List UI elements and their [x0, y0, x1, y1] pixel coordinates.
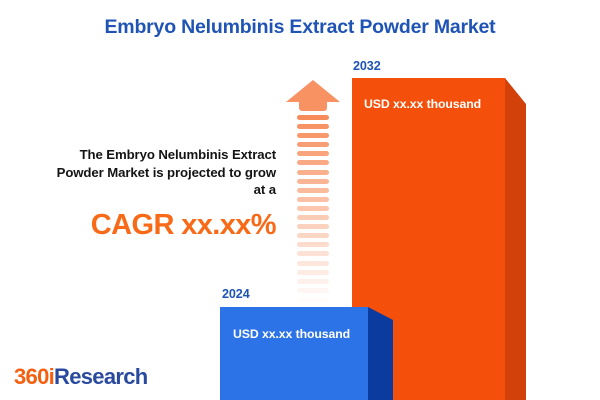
brand-logo[interactable]: 360iResearch — [14, 364, 148, 390]
arrow-segment — [297, 160, 329, 165]
logo-primary-text: 360i — [14, 364, 54, 389]
arrow-head-icon — [286, 80, 340, 102]
statement-line-3: at a — [14, 181, 276, 199]
arrow-segment — [297, 297, 329, 302]
arrow-segment — [297, 261, 329, 266]
bar-2024-side-3d — [368, 307, 393, 400]
arrow-segment — [297, 142, 329, 147]
logo-secondary-text: Research — [54, 364, 147, 389]
arrow-segment — [297, 242, 329, 247]
statement-block: The Embryo Nelumbinis Extract Powder Mar… — [14, 146, 276, 242]
bar-2024-year-label: 2024 — [222, 287, 250, 301]
arrow-segment — [297, 151, 329, 156]
arrow-segment — [297, 224, 329, 229]
statement-text: The Embryo Nelumbinis Extract Powder Mar… — [14, 146, 276, 199]
page-title: Embryo Nelumbinis Extract Powder Market — [0, 16, 600, 39]
arrow-segment — [297, 206, 329, 211]
bar-2024 — [220, 307, 368, 400]
arrow-neck-icon — [299, 102, 327, 111]
statement-line-2: Powder Market is projected to grow — [14, 164, 276, 182]
arrow-segment — [297, 251, 329, 256]
arrow-segment — [297, 170, 329, 175]
bar-2032-year-label: 2032 — [353, 59, 381, 73]
arrow-segment — [297, 288, 329, 293]
arrow-segment — [297, 115, 329, 120]
arrow-segment — [297, 233, 329, 238]
arrow-segment — [297, 179, 329, 184]
growth-arrow-icon — [286, 80, 340, 295]
bar-2032-value-label: USD xx.xx thousand — [364, 97, 481, 111]
arrow-segment — [297, 133, 329, 138]
bar-2024-face — [220, 307, 368, 400]
bar-2032-side-3d — [505, 78, 526, 400]
arrow-segment — [297, 197, 329, 202]
arrow-segments — [297, 115, 329, 315]
arrow-segment — [297, 279, 329, 284]
market-infographic: Embryo Nelumbinis Extract Powder Market … — [0, 0, 600, 400]
arrow-segment — [297, 188, 329, 193]
statement-line-1: The Embryo Nelumbinis Extract — [14, 146, 276, 164]
cagr-value: CAGR xx.xx% — [14, 208, 276, 242]
arrow-segment — [297, 124, 329, 129]
arrow-segment — [297, 215, 329, 220]
arrow-segment — [297, 270, 329, 275]
bar-2024-value-label: USD xx.xx thousand — [233, 327, 350, 341]
